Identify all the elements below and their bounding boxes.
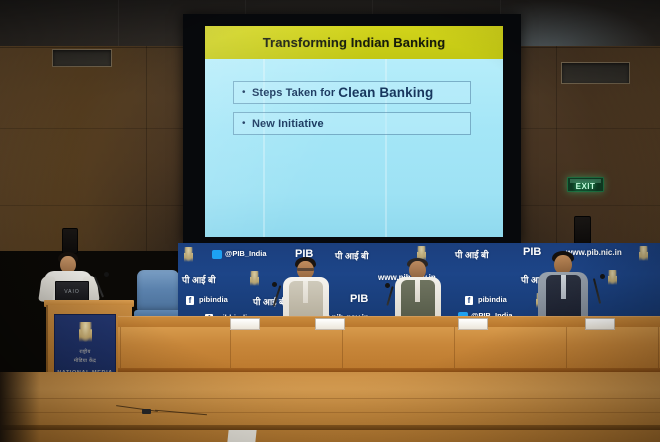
panelist-cl-mic-head [272, 282, 277, 287]
facebook-icon: f [465, 296, 473, 305]
facebook-icon: f [186, 296, 194, 305]
backdrop-handle-label: pibindia [478, 295, 507, 304]
backdrop-text: पी आई बी [253, 295, 287, 308]
podium-hindi-line-1: राष्ट्रीय [79, 349, 90, 356]
slide-title-text: Transforming Indian Banking [263, 35, 446, 50]
stage-plank-line-1 [0, 398, 660, 399]
panelist-r-mic-head [600, 274, 605, 279]
bullet-marker-icon: • [242, 88, 252, 98]
slide-title-bar: Transforming Indian Banking [205, 26, 503, 59]
acoustic-panel-left [52, 49, 112, 67]
acoustic-panel-right [561, 62, 630, 84]
bullet-2-text-small: New Initiative [252, 118, 324, 130]
wall-vseam-1 [146, 46, 147, 251]
nameplate-1 [230, 318, 260, 330]
projection-screen-frame: Transforming Indian Banking • Steps Take… [183, 14, 521, 244]
exit-sign-bar [570, 179, 601, 183]
backdrop-text: PIB [350, 293, 368, 305]
backdrop-text: पी आई बी [335, 249, 369, 262]
press-conference-scene: EXIT Transforming Indian Banking • Steps… [0, 0, 660, 442]
backdrop-handle-label: @PIB_India [225, 249, 267, 258]
panelist-r-collar [561, 275, 566, 299]
chair-empty-left [137, 270, 179, 312]
wall-speaker-left [62, 228, 78, 254]
wall-speaker-right [574, 216, 591, 244]
backdrop-text: www.pib.nic.in [566, 248, 622, 257]
national-emblem-icon [250, 271, 259, 286]
national-emblem-icon [608, 270, 617, 285]
national-emblem-icon [79, 322, 92, 342]
backdrop-handle-label: pibindia [199, 295, 228, 304]
stage-front-edge [0, 425, 660, 430]
nameplate-4 [585, 318, 615, 330]
stage-shadow-left [0, 372, 40, 442]
wall-light-left [0, 46, 190, 251]
bullet-1-text-large: Clean Banking [338, 85, 433, 100]
backdrop-text: पी आई बी [455, 248, 489, 261]
exit-sign: EXIT [567, 177, 604, 192]
national-emblem-icon [639, 246, 648, 261]
stage-floor [0, 372, 660, 442]
slide-bullet-1: • Steps Taken for Clean Banking [233, 81, 471, 104]
bullet-marker-icon: • [242, 119, 252, 129]
wall-vseam-2 [556, 46, 557, 251]
panelist-cl-glasses [297, 268, 314, 271]
nameplate-2 [315, 318, 345, 330]
podium-hindi-line-2: मीडिया केंद्र [74, 358, 96, 365]
slide-bullet-2: • New Initiative [233, 112, 471, 135]
laptop-brand-label: VAIO [64, 289, 80, 295]
floor-cable-connector [142, 409, 151, 414]
nameplate-3 [458, 318, 488, 330]
laptop-lid: VAIO [55, 281, 89, 302]
twitter-icon [212, 250, 222, 259]
panelist-cl-collar [303, 281, 308, 303]
panelist-c-mic-head [385, 283, 390, 288]
podium-mic-head [104, 272, 109, 277]
projected-slide: Transforming Indian Banking • Steps Take… [205, 26, 503, 237]
national-emblem-icon [184, 247, 193, 262]
floor-paper [227, 430, 256, 442]
backdrop-text: पी आई बी [182, 273, 216, 286]
panelist-c-collar [415, 280, 420, 302]
slide-body: • Steps Taken for Clean Banking • New In… [205, 59, 503, 237]
exit-sign-label: EXIT [576, 182, 596, 191]
stage-plank-line-2 [0, 412, 660, 413]
backdrop-text: PIB [523, 246, 541, 258]
bullet-1-text-small: Steps Taken for [252, 87, 335, 99]
